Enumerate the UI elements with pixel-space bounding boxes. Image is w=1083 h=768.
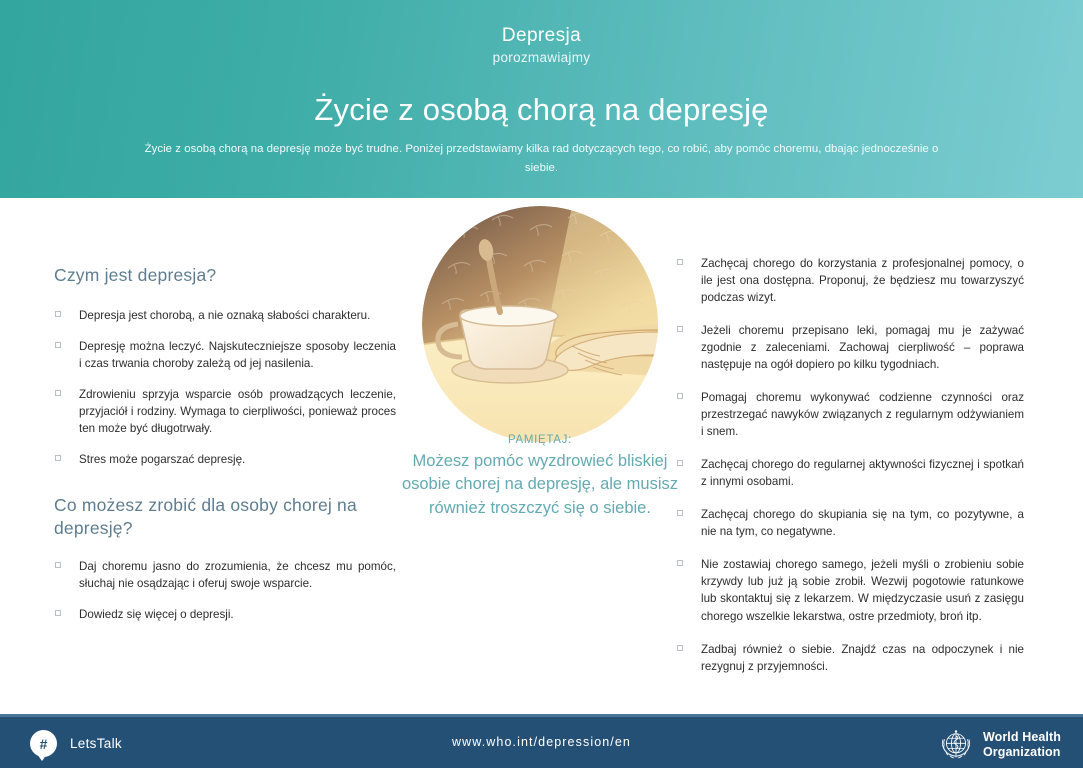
right-column: Zachęcaj chorego do korzystania z profes… xyxy=(676,255,1024,691)
list-item-text: Nie zostawiaj chorego samego, jeżeli myś… xyxy=(701,558,1024,622)
list-item: Daj choremu jasno do zrozumienia, że chc… xyxy=(54,558,396,592)
square-bullet-icon xyxy=(55,562,61,568)
left-column: Czym jest depresja? Depresja jest chorob… xyxy=(54,264,396,623)
list-advice-for-carers: Zachęcaj chorego do korzystania z profes… xyxy=(676,255,1024,675)
list-item-text: Jeżeli choremu przepisano leki, pomagaj … xyxy=(701,324,1024,371)
square-bullet-icon xyxy=(677,645,683,651)
remember-label: PAMIĘTAJ: xyxy=(399,434,681,448)
square-bullet-icon xyxy=(55,342,61,348)
list-item: Dowiedz się więcej o depresji. xyxy=(54,606,396,623)
list-item-text: Depresję można leczyć. Najskuteczniejsze… xyxy=(79,340,396,370)
square-bullet-icon xyxy=(55,311,61,317)
list-item: Jeżeli choremu przepisano leki, pomagaj … xyxy=(676,322,1024,373)
list-item-text: Zdrowieniu sprzyja wsparcie osób prowadz… xyxy=(79,388,396,435)
page-subtitle: Życie z osobą chorą na depresję może być… xyxy=(142,127,942,178)
speech-bubble-tail-icon xyxy=(37,754,47,761)
list-item: Zachęcaj chorego do skupiania się na tym… xyxy=(676,506,1024,540)
list-item-text: Zadbaj również o siebie. Znajdź czas na … xyxy=(701,643,1024,673)
square-bullet-icon xyxy=(677,326,683,332)
list-item: Depresję można leczyć. Najskuteczniejsze… xyxy=(54,338,396,372)
campaign-brand-tagline: porozmawiajmy xyxy=(0,47,1083,66)
list-item: Zachęcaj chorego do regularnej aktywnośc… xyxy=(676,456,1024,490)
list-what-is-depression: Depresja jest chorobą, a nie oznaką słab… xyxy=(54,307,396,468)
who-wordmark: World Health Organization xyxy=(983,730,1061,761)
square-bullet-icon xyxy=(677,259,683,265)
square-bullet-icon xyxy=(677,560,683,566)
square-bullet-icon xyxy=(677,393,683,399)
footer-website-url[interactable]: www.who.int/depression/en xyxy=(0,735,1083,749)
section-heading-what-can-you-do: Co możesz zrobić dla osoby chorej na dep… xyxy=(54,494,396,541)
list-item: Depresja jest chorobą, a nie oznaką słab… xyxy=(54,307,396,324)
square-bullet-icon xyxy=(677,510,683,516)
who-emblem-icon xyxy=(938,727,974,763)
list-item-text: Zachęcaj chorego do regularnej aktywnośc… xyxy=(701,458,1024,488)
list-item-text: Daj choremu jasno do zrozumienia, że chc… xyxy=(79,560,396,590)
list-item: Zdrowieniu sprzyja wsparcie osób prowadz… xyxy=(54,386,396,437)
list-item: Zadbaj również o siebie. Znajdź czas na … xyxy=(676,641,1024,675)
who-wordmark-line1: World Health xyxy=(983,730,1061,745)
list-item-text: Depresja jest chorobą, a nie oznaką słab… xyxy=(79,309,370,322)
remember-text: Możesz pomóc wyzdrowieć bliskiej osobie … xyxy=(399,450,681,520)
campaign-brand-name: Depresja xyxy=(0,0,1083,47)
who-logo: World Health Organization xyxy=(938,727,1061,763)
square-bullet-icon xyxy=(55,390,61,396)
list-item-text: Zachęcaj chorego do skupiania się na tym… xyxy=(701,508,1024,538)
page-footer: # LetsTalk www.who.int/depression/en xyxy=(0,714,1083,768)
section-heading-what-is-depression: Czym jest depresja? xyxy=(54,264,396,288)
list-item-text: Stres może pogarszać depresję. xyxy=(79,453,245,466)
remember-callout: PAMIĘTAJ: Możesz pomóc wyzdrowieć bliski… xyxy=(399,434,681,520)
square-bullet-icon xyxy=(55,610,61,616)
page-header: Depresja porozmawiajmy Życie z osobą cho… xyxy=(0,0,1083,198)
list-item: Zachęcaj chorego do korzystania z profes… xyxy=(676,255,1024,306)
hands-holding-over-teacup-illustration xyxy=(422,206,658,442)
square-bullet-icon xyxy=(677,460,683,466)
who-wordmark-line2: Organization xyxy=(983,745,1061,760)
main-content: Czym jest depresja? Depresja jest chorob… xyxy=(0,198,1083,714)
list-item-text: Zachęcaj chorego do korzystania z profes… xyxy=(701,257,1024,304)
page-title: Życie z osobą chorą na depresję xyxy=(0,66,1083,128)
list-item: Stres może pogarszać depresję. xyxy=(54,451,396,468)
square-bullet-icon xyxy=(55,455,61,461)
list-item-text: Dowiedz się więcej o depresji. xyxy=(79,608,234,621)
list-item-text: Pomagaj choremu wykonywać codzienne czyn… xyxy=(701,391,1024,438)
list-what-can-you-do: Daj choremu jasno do zrozumienia, że chc… xyxy=(54,558,396,623)
list-item: Pomagaj choremu wykonywać codzienne czyn… xyxy=(676,389,1024,440)
list-item: Nie zostawiaj chorego samego, jeżeli myś… xyxy=(676,556,1024,624)
